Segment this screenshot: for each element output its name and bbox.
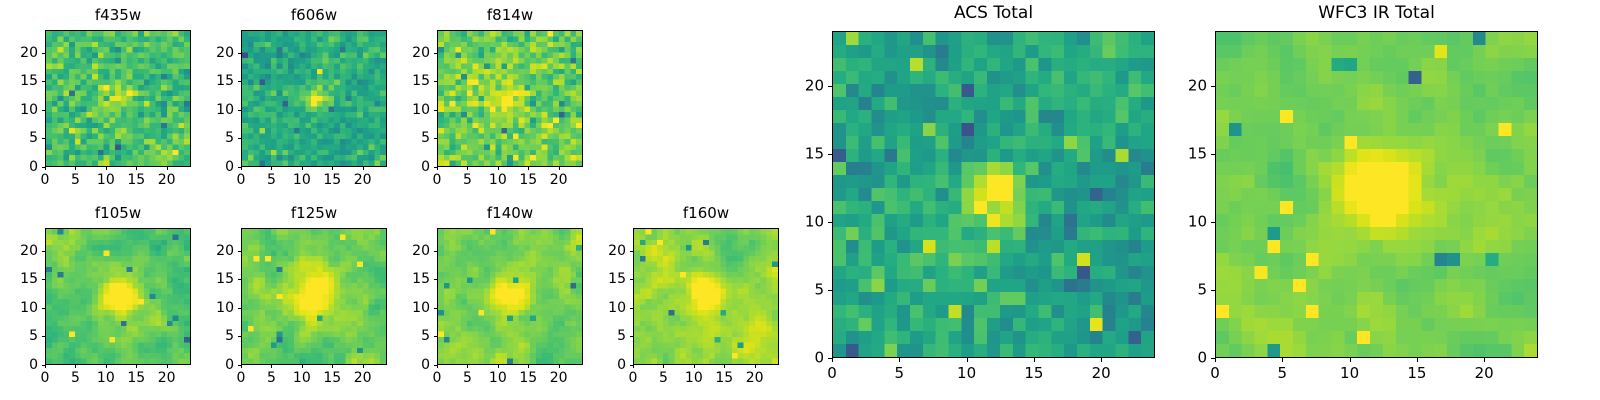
x-tick-label: 20	[1092, 366, 1111, 381]
x-tick-label: 10	[1340, 366, 1359, 381]
y-tick-mark	[42, 53, 45, 54]
panel-f814w: f814w0510152005101520	[437, 30, 583, 167]
y-tick-mark	[630, 365, 633, 366]
x-tick-mark	[106, 167, 107, 170]
y-tick-mark	[828, 222, 832, 223]
panel-title: f814w	[437, 8, 583, 23]
x-tick-mark	[832, 358, 833, 362]
x-tick-mark	[467, 365, 468, 368]
x-tick-mark	[1417, 358, 1418, 362]
heatmap-axes	[633, 228, 779, 365]
y-tick-mark	[434, 365, 437, 366]
panel-wfc3-ir-total: WFC3 IR Total0510152005101520	[1215, 31, 1538, 358]
x-tick-mark	[241, 167, 242, 170]
heatmap-axes	[437, 228, 583, 365]
y-tick-mark	[1211, 290, 1215, 291]
y-tick-label: 5	[390, 131, 430, 145]
y-tick-label: 15	[1167, 146, 1207, 161]
x-tick-mark	[559, 167, 560, 170]
x-tick-mark	[559, 365, 560, 368]
y-tick-label: 0	[194, 358, 234, 372]
x-tick-label: 15	[1407, 366, 1426, 381]
y-tick-mark	[42, 336, 45, 337]
y-tick-mark	[434, 251, 437, 252]
x-tick-mark	[1034, 358, 1035, 362]
y-tick-mark	[434, 336, 437, 337]
x-tick-mark	[363, 167, 364, 170]
x-tick-mark	[724, 365, 725, 368]
y-tick-label: 10	[784, 214, 824, 229]
y-tick-mark	[238, 81, 241, 82]
y-tick-label: 15	[0, 272, 38, 286]
x-tick-mark	[633, 365, 634, 368]
panel-title: f435w	[45, 8, 191, 23]
y-tick-mark	[238, 138, 241, 139]
y-tick-label: 10	[586, 301, 626, 315]
heatmap-axes	[1215, 31, 1538, 358]
panel-title: f606w	[241, 8, 387, 23]
y-tick-label: 15	[390, 74, 430, 88]
y-tick-label: 5	[0, 131, 38, 145]
y-tick-mark	[630, 279, 633, 280]
x-tick-label: 15	[323, 371, 341, 385]
x-tick-label: 15	[519, 371, 537, 385]
x-tick-label: 15	[1024, 366, 1043, 381]
y-tick-mark	[630, 308, 633, 309]
y-tick-label: 0	[0, 160, 38, 174]
y-tick-mark	[42, 138, 45, 139]
x-tick-mark	[528, 365, 529, 368]
y-tick-mark	[1211, 358, 1215, 359]
y-tick-label: 5	[784, 282, 824, 297]
x-tick-mark	[1484, 358, 1485, 362]
heatmap-axes	[832, 31, 1155, 358]
panel-f140w: f140w0510152005101520	[437, 228, 583, 365]
heatmap-image	[46, 229, 190, 364]
x-tick-mark	[271, 167, 272, 170]
y-tick-mark	[434, 81, 437, 82]
x-tick-mark	[899, 358, 900, 362]
x-tick-label: 15	[715, 371, 733, 385]
y-tick-label: 15	[0, 74, 38, 88]
x-tick-mark	[75, 167, 76, 170]
panel-title: f140w	[437, 206, 583, 221]
y-tick-label: 10	[194, 301, 234, 315]
x-tick-label: 5	[71, 173, 80, 187]
panel-title: f160w	[633, 206, 779, 221]
x-tick-label: 5	[659, 371, 668, 385]
x-tick-label: 15	[323, 173, 341, 187]
y-tick-mark	[630, 336, 633, 337]
y-tick-label: 20	[586, 244, 626, 258]
panel-f125w: f125w0510152005101520	[241, 228, 387, 365]
heatmap-axes	[437, 30, 583, 167]
y-tick-mark	[828, 154, 832, 155]
y-tick-mark	[1211, 222, 1215, 223]
y-tick-label: 5	[586, 329, 626, 343]
y-tick-label: 0	[784, 351, 824, 366]
y-tick-label: 15	[390, 272, 430, 286]
x-tick-mark	[241, 365, 242, 368]
y-tick-label: 15	[194, 272, 234, 286]
y-tick-label: 20	[390, 46, 430, 60]
y-tick-label: 0	[390, 358, 430, 372]
x-tick-mark	[755, 365, 756, 368]
y-tick-label: 0	[0, 358, 38, 372]
y-tick-label: 15	[586, 272, 626, 286]
x-tick-mark	[45, 365, 46, 368]
x-tick-label: 20	[550, 173, 568, 187]
panel-acs-total: ACS Total0510152005101520	[832, 31, 1155, 358]
x-tick-label: 10	[97, 371, 115, 385]
y-tick-label: 5	[0, 329, 38, 343]
x-tick-mark	[437, 167, 438, 170]
y-tick-mark	[434, 308, 437, 309]
y-tick-label: 10	[1167, 214, 1207, 229]
y-tick-mark	[238, 110, 241, 111]
y-tick-label: 5	[194, 329, 234, 343]
x-tick-mark	[1215, 358, 1216, 362]
x-tick-mark	[967, 358, 968, 362]
y-tick-mark	[434, 279, 437, 280]
y-tick-mark	[42, 251, 45, 252]
x-tick-label: 15	[519, 173, 537, 187]
y-tick-mark	[42, 279, 45, 280]
panel-f105w: f105w0510152005101520	[45, 228, 191, 365]
y-tick-label: 20	[784, 78, 824, 93]
x-tick-mark	[467, 167, 468, 170]
x-tick-label: 20	[354, 173, 372, 187]
heatmap-image	[242, 31, 386, 166]
y-tick-mark	[434, 53, 437, 54]
y-tick-label: 5	[390, 329, 430, 343]
y-tick-mark	[42, 81, 45, 82]
x-tick-label: 5	[1278, 366, 1288, 381]
y-tick-label: 20	[194, 46, 234, 60]
x-tick-mark	[663, 365, 664, 368]
x-tick-mark	[437, 365, 438, 368]
x-tick-label: 10	[293, 371, 311, 385]
heatmap-axes	[45, 228, 191, 365]
x-tick-mark	[136, 167, 137, 170]
y-tick-mark	[630, 251, 633, 252]
x-tick-mark	[136, 365, 137, 368]
y-tick-label: 5	[1167, 282, 1207, 297]
y-tick-mark	[828, 86, 832, 87]
y-tick-label: 5	[194, 131, 234, 145]
y-tick-mark	[828, 358, 832, 359]
x-tick-mark	[498, 365, 499, 368]
x-tick-mark	[694, 365, 695, 368]
y-tick-label: 20	[194, 244, 234, 258]
x-tick-mark	[271, 365, 272, 368]
x-tick-label: 20	[354, 371, 372, 385]
x-tick-mark	[1101, 358, 1102, 362]
x-tick-label: 10	[957, 366, 976, 381]
x-tick-label: 0	[237, 173, 246, 187]
y-tick-mark	[238, 308, 241, 309]
x-tick-label: 5	[895, 366, 905, 381]
heatmap-image	[46, 31, 190, 166]
x-tick-label: 15	[127, 173, 145, 187]
heatmap-image	[438, 229, 582, 364]
x-tick-label: 10	[685, 371, 703, 385]
y-tick-mark	[42, 308, 45, 309]
heatmap-axes	[241, 30, 387, 167]
x-tick-label: 0	[41, 371, 50, 385]
x-tick-mark	[498, 167, 499, 170]
y-tick-mark	[238, 251, 241, 252]
y-tick-label: 10	[194, 103, 234, 117]
x-tick-label: 0	[629, 371, 638, 385]
x-tick-label: 0	[1210, 366, 1220, 381]
y-tick-mark	[434, 110, 437, 111]
y-tick-mark	[238, 365, 241, 366]
x-tick-mark	[528, 167, 529, 170]
panel-f606w: f606w0510152005101520	[241, 30, 387, 167]
x-tick-mark	[302, 167, 303, 170]
x-tick-mark	[167, 365, 168, 368]
x-tick-label: 0	[237, 371, 246, 385]
y-tick-label: 20	[1167, 78, 1207, 93]
panel-title: f125w	[241, 206, 387, 221]
y-tick-label: 0	[390, 160, 430, 174]
y-tick-label: 15	[194, 74, 234, 88]
x-tick-mark	[75, 365, 76, 368]
x-tick-label: 15	[127, 371, 145, 385]
heatmap-image	[634, 229, 778, 364]
x-tick-label: 5	[267, 371, 276, 385]
y-tick-mark	[238, 53, 241, 54]
y-tick-label: 0	[1167, 351, 1207, 366]
heatmap-image	[833, 32, 1154, 357]
y-tick-mark	[434, 138, 437, 139]
x-tick-mark	[1282, 358, 1283, 362]
x-tick-mark	[106, 365, 107, 368]
y-tick-mark	[42, 365, 45, 366]
x-tick-label: 0	[433, 371, 442, 385]
x-tick-label: 10	[97, 173, 115, 187]
x-tick-label: 5	[463, 371, 472, 385]
y-tick-mark	[238, 167, 241, 168]
figure-canvas: f435w0510152005101520f606w05101520051015…	[0, 0, 1600, 400]
y-tick-label: 15	[784, 146, 824, 161]
y-tick-mark	[42, 110, 45, 111]
x-tick-label: 20	[158, 173, 176, 187]
x-tick-label: 20	[1475, 366, 1494, 381]
y-tick-label: 20	[0, 244, 38, 258]
panel-title: ACS Total	[832, 5, 1155, 22]
x-tick-mark	[1350, 358, 1351, 362]
x-tick-label: 10	[489, 173, 507, 187]
x-tick-label: 20	[158, 371, 176, 385]
x-tick-label: 0	[433, 173, 442, 187]
heatmap-axes	[45, 30, 191, 167]
heatmap-image	[1216, 32, 1537, 357]
y-tick-label: 0	[194, 160, 234, 174]
x-tick-label: 0	[41, 173, 50, 187]
heatmap-image	[438, 31, 582, 166]
panel-title: WFC3 IR Total	[1215, 5, 1538, 22]
y-tick-label: 10	[0, 103, 38, 117]
x-tick-label: 20	[550, 371, 568, 385]
panel-f160w: f160w0510152005101520	[633, 228, 779, 365]
y-tick-mark	[1211, 86, 1215, 87]
x-tick-mark	[302, 365, 303, 368]
x-tick-mark	[332, 167, 333, 170]
x-tick-label: 10	[489, 371, 507, 385]
x-tick-mark	[45, 167, 46, 170]
panel-title: f105w	[45, 206, 191, 221]
y-tick-label: 0	[586, 358, 626, 372]
y-tick-mark	[238, 279, 241, 280]
y-tick-label: 10	[0, 301, 38, 315]
y-tick-mark	[238, 336, 241, 337]
x-tick-mark	[167, 167, 168, 170]
y-tick-mark	[42, 167, 45, 168]
y-tick-mark	[828, 290, 832, 291]
y-tick-label: 10	[390, 301, 430, 315]
x-tick-mark	[363, 365, 364, 368]
heatmap-image	[242, 229, 386, 364]
x-tick-label: 10	[293, 173, 311, 187]
y-tick-mark	[1211, 154, 1215, 155]
y-tick-label: 20	[390, 244, 430, 258]
x-tick-mark	[332, 365, 333, 368]
x-tick-label: 5	[463, 173, 472, 187]
x-tick-label: 20	[746, 371, 764, 385]
x-tick-label: 0	[827, 366, 837, 381]
y-tick-label: 20	[0, 46, 38, 60]
x-tick-label: 5	[267, 173, 276, 187]
heatmap-axes	[241, 228, 387, 365]
x-tick-label: 5	[71, 371, 80, 385]
panel-f435w: f435w0510152005101520	[45, 30, 191, 167]
y-tick-label: 10	[390, 103, 430, 117]
y-tick-mark	[434, 167, 437, 168]
